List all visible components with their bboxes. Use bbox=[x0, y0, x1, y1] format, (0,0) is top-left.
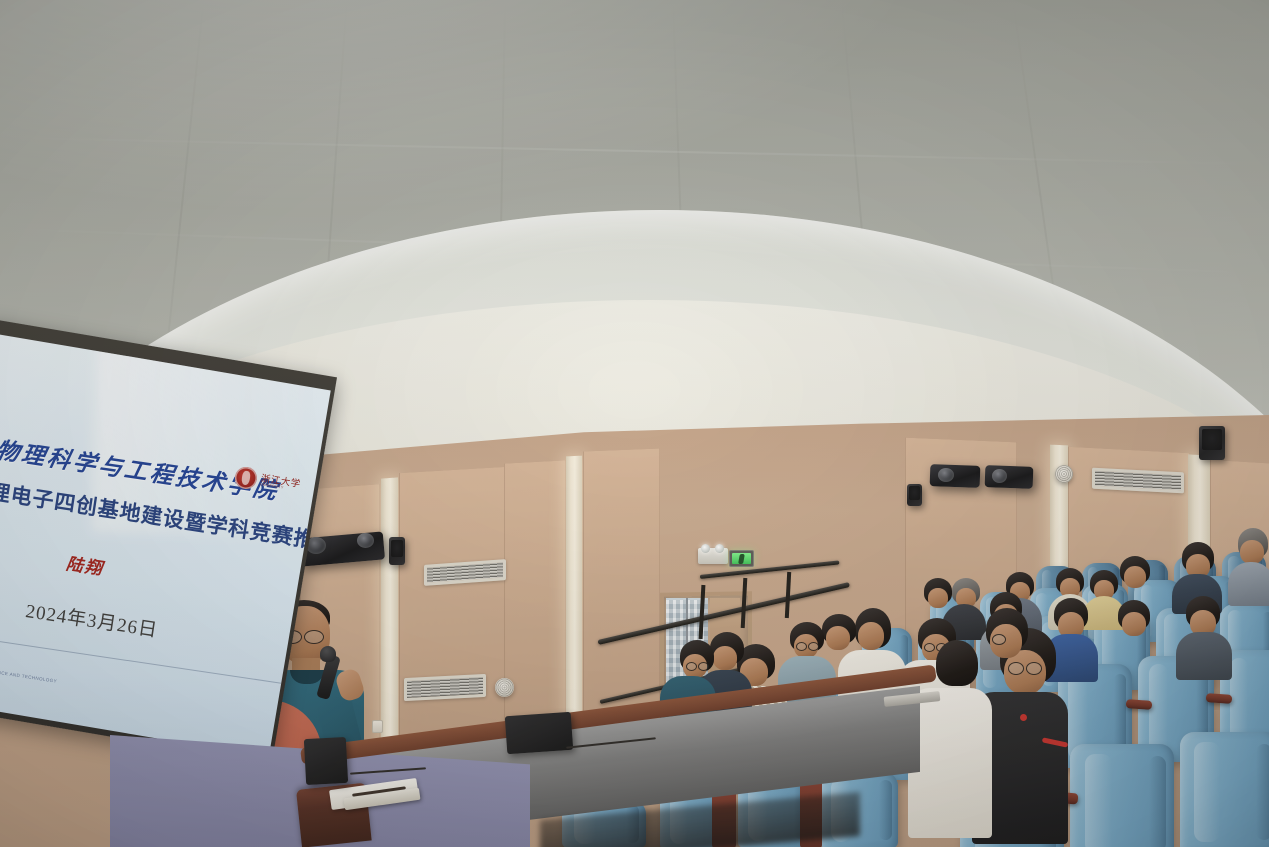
wall-pilaster bbox=[381, 477, 398, 778]
auditorium-seat[interactable] bbox=[1070, 744, 1174, 847]
audience-glasses-icon bbox=[924, 643, 935, 652]
wall-speaker bbox=[389, 537, 405, 565]
auditorium-photo: 物理科学与工程技术学院 浙江大学 UNIVERSITY 物理电子四创基地建设暨学… bbox=[0, 0, 1269, 847]
emergency-light bbox=[698, 548, 728, 564]
projector-lens bbox=[357, 533, 374, 548]
audience-person-face bbox=[1122, 612, 1146, 636]
audience-person-body bbox=[908, 688, 992, 838]
audience-person-face bbox=[858, 622, 884, 650]
av-equipment-box bbox=[304, 737, 348, 785]
audience-person-face bbox=[928, 588, 948, 608]
audience-glasses-icon bbox=[992, 634, 1006, 645]
audience-person-face bbox=[1240, 540, 1264, 564]
wall-outlet bbox=[372, 720, 383, 733]
microphone-capsule bbox=[320, 646, 336, 662]
projector-lens bbox=[938, 468, 954, 482]
audience-person-body bbox=[1176, 632, 1232, 680]
audience-person-body bbox=[1228, 562, 1269, 606]
polo-logo-icon bbox=[1020, 714, 1027, 721]
audience-glasses-icon bbox=[808, 642, 819, 651]
round-ceiling-speaker bbox=[495, 678, 514, 697]
wall-speaker bbox=[1199, 426, 1225, 460]
audience-glasses-icon bbox=[1008, 662, 1024, 675]
audience-person-head bbox=[936, 640, 978, 686]
audience-glasses-icon bbox=[698, 662, 709, 671]
audience-glasses-icon bbox=[1026, 662, 1042, 675]
air-vent bbox=[404, 674, 486, 701]
projector-lens bbox=[992, 469, 1007, 483]
av-equipment-box bbox=[505, 712, 573, 755]
seat-armrest bbox=[1206, 693, 1233, 704]
audience-person-face bbox=[826, 626, 850, 650]
round-ceiling-speaker bbox=[1055, 465, 1073, 483]
audience-person-face bbox=[1124, 566, 1146, 588]
slide-date: 2024年3月26日 bbox=[24, 596, 160, 643]
audience-person-face bbox=[713, 646, 737, 670]
audience-glasses-icon bbox=[686, 662, 697, 671]
slide-presenter-name: 陆翔 bbox=[65, 549, 106, 579]
exit-sign bbox=[729, 550, 754, 567]
seat-armrest bbox=[1126, 699, 1153, 710]
university-seal-icon bbox=[233, 465, 258, 490]
audience-glasses-icon bbox=[796, 642, 807, 651]
slide-footer-en: SCHOOL OF PHYSICAL SCIENCE AND TECHNOLOG… bbox=[0, 659, 57, 683]
auditorium-seat[interactable] bbox=[1180, 732, 1269, 847]
wall-speaker bbox=[907, 484, 922, 506]
